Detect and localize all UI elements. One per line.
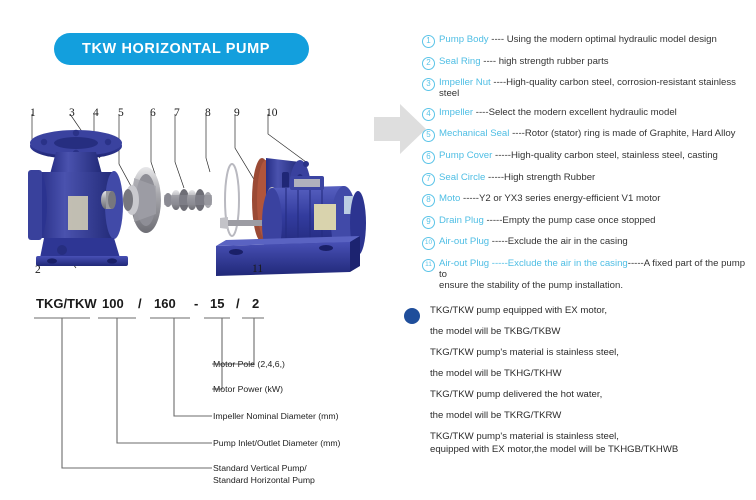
callout-11: 11 bbox=[252, 263, 263, 275]
page-title: TKW HORIZONTAL PUMP bbox=[82, 41, 270, 57]
circled-number-icon: 6 bbox=[422, 151, 435, 164]
feature-desc: -----Exclude the air in the casing bbox=[489, 236, 628, 247]
feature-desc-cont: ensure the stability of the pump install… bbox=[439, 280, 752, 291]
feature-desc: ---- high strength rubber parts bbox=[481, 56, 609, 67]
part-impeller bbox=[123, 167, 161, 233]
part-base-plate bbox=[216, 236, 360, 276]
exploded-pump-illustration bbox=[14, 100, 394, 290]
note-line-7: TKG/TKW pump's material is stainless ste… bbox=[430, 431, 752, 443]
circled-number-icon: 7 bbox=[422, 173, 435, 186]
page-root: TKW HORIZONTAL PUMP bbox=[0, 0, 756, 500]
feature-desc: ----Rotor (stator) ring is made of Graph… bbox=[509, 128, 735, 139]
feature-name: Moto bbox=[439, 193, 460, 204]
bullet-icon bbox=[404, 308, 420, 324]
callout-10: 10 bbox=[266, 107, 278, 119]
label-standard-vert: Standard Vertical Pump/ bbox=[213, 463, 307, 473]
feature-desc: ----Select the modern excellent hydrauli… bbox=[473, 107, 677, 118]
callout-1: 1 bbox=[30, 107, 36, 119]
label-motor-pole: Motor Pole (2,4,6,) bbox=[213, 359, 285, 369]
feature-item-3: 3 Impeller Nut ----High-quality carbon s… bbox=[422, 77, 752, 99]
callout-2: 2 bbox=[35, 264, 41, 276]
label-motor-power: Motor Power (kW) bbox=[213, 384, 283, 394]
feature-name: Mechanical Seal bbox=[439, 128, 509, 139]
circled-number-icon: 4 bbox=[422, 108, 435, 121]
feature-desc: -----Y2 or YX3 series energy-efficient V… bbox=[460, 193, 660, 204]
feature-item-10: 10 Air-out Plug -----Exclude the air in … bbox=[422, 236, 752, 250]
feature-item-6: 6 Pump Cover -----High-quality carbon st… bbox=[422, 150, 752, 164]
circled-number-icon: 2 bbox=[422, 57, 435, 70]
callout-3: 3 bbox=[69, 107, 75, 119]
note-line-8: equipped with EX motor,the model will be… bbox=[430, 444, 752, 456]
feature-name: Impeller bbox=[439, 107, 473, 118]
model-designation-diagram: TKG/TKW 100 / 160 - 15 / 2 bbox=[14, 296, 394, 492]
feature-item-8: 8 Moto -----Y2 or YX3 series energy-effi… bbox=[422, 193, 752, 207]
feature-item-1: 1 Pump Body ---- Using the modern optima… bbox=[422, 34, 752, 48]
feature-item-2: 2 Seal Ring ---- high strength rubber pa… bbox=[422, 56, 752, 70]
feature-item-7: 7 Seal Circle -----High strength Rubber bbox=[422, 172, 752, 186]
circled-number-icon: 9 bbox=[422, 216, 435, 229]
right-arrow-icon bbox=[372, 100, 428, 158]
callout-5: 5 bbox=[118, 107, 124, 119]
feature-name: Pump Cover bbox=[439, 150, 492, 161]
page-title-banner: TKW HORIZONTAL PUMP bbox=[54, 33, 309, 65]
feature-name: Pump Body bbox=[439, 34, 489, 45]
feature-desc: -----High-quality carbon steel, stainles… bbox=[492, 150, 718, 161]
model-leader-lines bbox=[14, 296, 394, 492]
model-variants-notes: TKG/TKW pump equipped with EX motor, the… bbox=[402, 305, 752, 465]
feature-item-11: 11 Air-out Plug -----Exclude the air in … bbox=[422, 258, 752, 291]
feature-desc: -----High strength Rubber bbox=[485, 172, 595, 183]
feature-list: 1 Pump Body ---- Using the modern optima… bbox=[422, 34, 752, 299]
callout-7: 7 bbox=[174, 107, 180, 119]
feature-desc: ---- Using the modern optimal hydraulic … bbox=[489, 34, 717, 45]
circled-number-icon: 8 bbox=[422, 194, 435, 207]
callout-4: 4 bbox=[93, 107, 99, 119]
circled-number-icon: 1 bbox=[422, 35, 435, 48]
circled-number-icon: 5 bbox=[422, 129, 435, 142]
label-impeller-dia: Impeller Nominal Diameter (mm) bbox=[213, 411, 339, 421]
callout-6: 6 bbox=[150, 107, 156, 119]
part-impeller-nut bbox=[101, 191, 116, 209]
feature-item-5: 5 Mechanical Seal ----Rotor (stator) rin… bbox=[422, 128, 752, 142]
feature-name: Air-out Plug bbox=[439, 236, 489, 247]
feature-name: Seal Ring bbox=[439, 56, 481, 67]
feature-name: Impeller Nut bbox=[439, 77, 491, 88]
circled-number-icon: 11 bbox=[422, 259, 435, 272]
note-line-5: TKG/TKW pump delivered the hot water, bbox=[430, 389, 752, 401]
note-line-1: TKG/TKW pump equipped with EX motor, bbox=[430, 305, 752, 317]
note-line-3: TKG/TKW pump's material is stainless ste… bbox=[430, 347, 752, 359]
label-inlet-outlet: Pump Inlet/Outlet Diameter (mm) bbox=[213, 438, 340, 448]
feature-desc: -----Empty the pump case once stopped bbox=[484, 215, 656, 226]
note-line-4: the model will be TKHG/TKHW bbox=[430, 368, 752, 380]
feature-item-9: 9 Drain Plug -----Empty the pump case on… bbox=[422, 215, 752, 229]
feature-name: Seal Circle bbox=[439, 172, 485, 183]
feature-name: Air-out Plug -----Exclude the air in the… bbox=[439, 258, 628, 269]
callout-8: 8 bbox=[205, 107, 211, 119]
feature-name: Drain Plug bbox=[439, 215, 484, 226]
callout-9: 9 bbox=[234, 107, 240, 119]
note-line-6: the model will be TKRG/TKRW bbox=[430, 410, 752, 422]
circled-number-icon: 10 bbox=[422, 237, 435, 250]
feature-item-4: 4 Impeller ----Select the modern excelle… bbox=[422, 107, 752, 121]
part-mechanical-seal bbox=[164, 189, 212, 211]
label-standard-horiz: Standard Horizontal Pump bbox=[213, 475, 315, 485]
circled-number-icon: 3 bbox=[422, 78, 435, 91]
note-line-2: the model will be TKBG/TKBW bbox=[430, 326, 752, 338]
